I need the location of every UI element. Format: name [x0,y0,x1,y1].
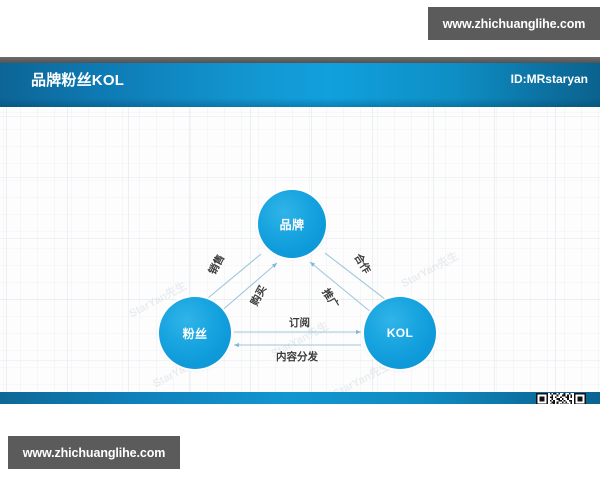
watermark-badge-bottom: www.zhichuanglihe.com [8,436,180,469]
signature-block: StarYan先生 [474,393,594,404]
diagram-node-brand[interactable]: 品牌 [258,190,326,258]
page-title: 品牌粉丝KOL [31,69,124,90]
diagram-node-kol[interactable]: KOL [364,297,436,369]
watermark-badge-top: www.zhichuanglihe.com [428,7,600,40]
edge-label-content: 内容分发 [276,349,318,364]
diagram-node-brand-label: 品牌 [280,216,305,233]
watermark-badge-bottom-label: www.zhichuanglihe.com [23,446,166,460]
qr-code-icon [536,393,586,404]
diagram-node-kol-label: KOL [387,326,414,340]
diagram-node-fans-label: 粉丝 [183,325,208,342]
slide-card: StarYan先生 StarYan先生 StarYan先生 StarYan先生 … [0,57,600,404]
watermark-badge-top-label: www.zhichuanglihe.com [443,17,586,31]
author-id-label: ID:MRstaryan [511,72,588,86]
diagram-node-fans[interactable]: 粉丝 [159,297,231,369]
edge-label-subscribe: 订阅 [289,315,310,330]
